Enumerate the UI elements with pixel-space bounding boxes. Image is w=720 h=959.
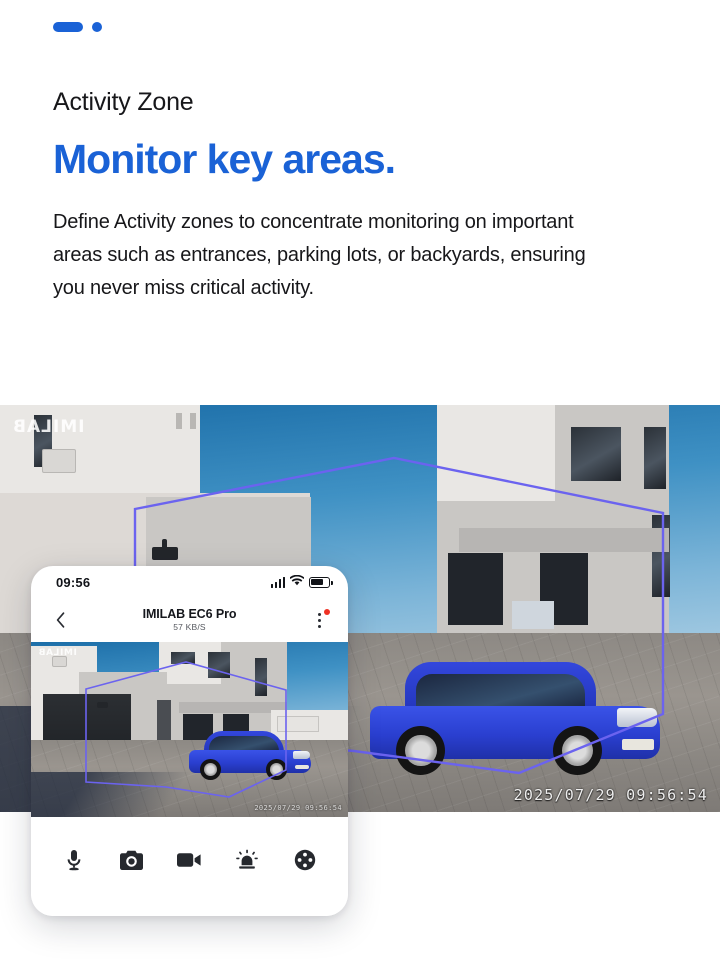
preview-activity-zone-overlay	[31, 642, 348, 817]
more-dot-2	[318, 619, 321, 622]
signal-bars-icon	[271, 577, 285, 588]
body-paragraph: Define Activity zones to concentrate mon…	[53, 206, 613, 305]
window-r1	[571, 427, 621, 481]
pagination-dot-2[interactable]	[92, 22, 102, 32]
car-headlight	[617, 708, 658, 726]
phone-status-bar: 09:56	[31, 566, 348, 598]
snapshot-button[interactable]	[115, 843, 149, 877]
notification-badge	[324, 609, 330, 615]
video-timestamp: 2025/07/29 09:56:54	[514, 786, 708, 804]
live-preview[interactable]: IMILAB 2025/07/29 09:56:54	[31, 642, 348, 817]
car-wheel-front	[553, 726, 602, 775]
battery-icon	[309, 577, 330, 588]
status-time: 09:56	[56, 575, 90, 590]
phone-app-card: 09:56 IMILAB EC6 Pro	[31, 566, 348, 916]
glass-rail	[512, 601, 554, 629]
preview-timestamp: 2025/07/29 09:56:54	[254, 804, 342, 812]
ptz-dpad-icon	[294, 849, 316, 871]
roof-vent-1	[176, 413, 182, 429]
carousel-pagination[interactable]	[53, 22, 102, 32]
microphone-icon	[64, 849, 84, 871]
video-camera-icon	[177, 852, 201, 868]
roof-vent-2	[190, 413, 196, 429]
siren-icon	[236, 849, 258, 871]
phone-nav-bar: IMILAB EC6 Pro 57 KB/S	[31, 598, 348, 642]
siren-button[interactable]	[230, 843, 264, 877]
wifi-icon	[290, 573, 304, 591]
back-button[interactable]	[49, 609, 71, 631]
more-dot-1	[318, 613, 321, 616]
imilab-watermark: IMILAB	[12, 417, 85, 437]
nav-title-group: IMILAB EC6 Pro 57 KB/S	[143, 607, 237, 633]
more-menu-button[interactable]	[310, 610, 328, 630]
eyebrow-label: Activity Zone	[53, 86, 653, 118]
copy-block: Activity Zone Monitor key areas. Define …	[53, 86, 653, 305]
status-icons	[271, 573, 330, 591]
promo-page: Activity Zone Monitor key areas. Define …	[0, 0, 720, 959]
car-vehicle	[370, 660, 660, 775]
overhang-right	[459, 528, 669, 552]
device-name: IMILAB EC6 Pro	[143, 607, 237, 621]
recess-r1	[448, 553, 503, 625]
ac-unit	[42, 449, 76, 473]
wall-lamp-arm	[162, 539, 167, 549]
page-title: Monitor key areas.	[53, 134, 653, 184]
record-button[interactable]	[172, 843, 206, 877]
camera-icon	[120, 850, 143, 870]
microphone-button[interactable]	[57, 843, 91, 877]
more-dot-3	[318, 625, 321, 628]
device-bitrate: 57 KB/S	[143, 623, 237, 633]
car-plate	[622, 739, 654, 749]
preview-watermark: IMILAB	[38, 648, 77, 658]
car-wheel-rear	[396, 726, 445, 775]
phone-toolbar	[31, 817, 348, 916]
house-block-right-upper	[437, 405, 555, 501]
chevron-left-icon	[56, 612, 65, 628]
pagination-dot-active[interactable]	[53, 22, 83, 32]
ptz-button[interactable]	[288, 843, 322, 877]
window-r2	[644, 427, 666, 489]
